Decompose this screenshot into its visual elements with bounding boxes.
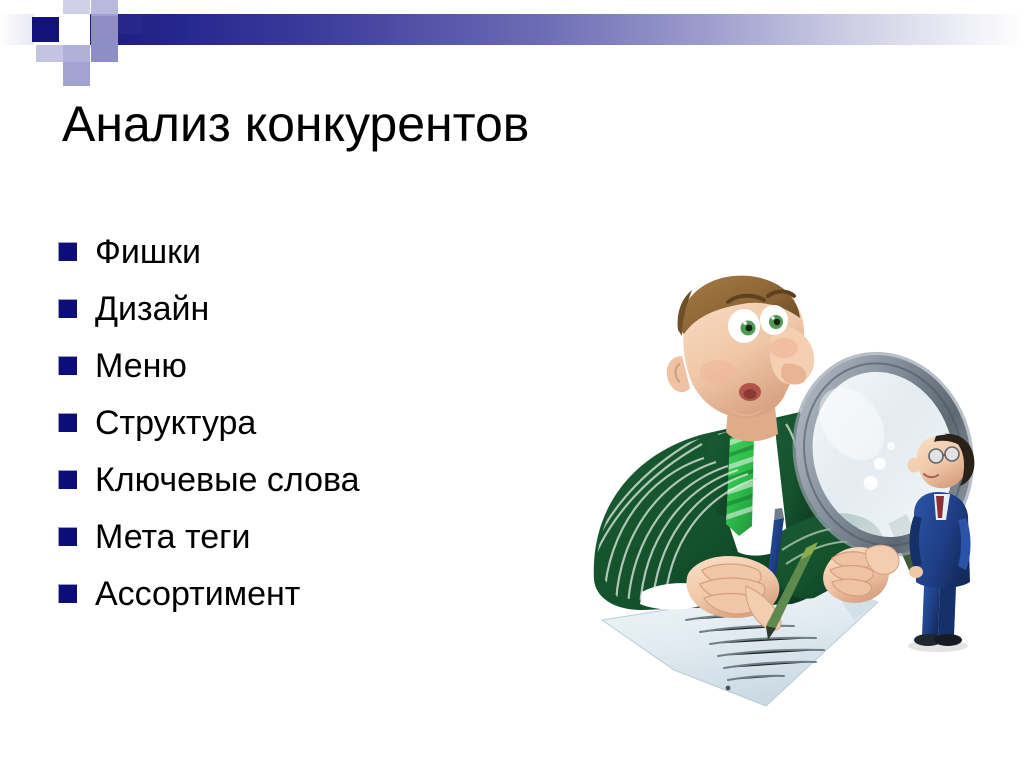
header-gradient-band bbox=[88, 14, 1024, 45]
list-item: Меню bbox=[58, 346, 578, 403]
list-item-label: Фишки bbox=[95, 232, 201, 272]
deco-square-b bbox=[63, 14, 90, 45]
list-item: Фишки bbox=[58, 232, 578, 289]
list-item-label: Структура bbox=[95, 403, 256, 443]
list-item-label: Мета теги bbox=[95, 517, 251, 557]
small-man bbox=[907, 434, 974, 652]
bullet-square-icon bbox=[58, 527, 77, 546]
deco-square-fade-left bbox=[0, 14, 34, 45]
deco-square-g bbox=[91, 45, 118, 62]
bullet-square-icon bbox=[58, 356, 77, 375]
list-item-label: Ассортимент bbox=[95, 574, 300, 614]
list-item: Дизайн bbox=[58, 289, 578, 346]
slide-title: Анализ конкурентов bbox=[62, 98, 529, 151]
list-item-label: Меню bbox=[95, 346, 187, 386]
list-item: Структура bbox=[58, 403, 578, 460]
deco-square-overlay bbox=[118, 14, 142, 34]
header-decoration bbox=[0, 0, 1024, 90]
bullet-square-icon bbox=[58, 584, 77, 603]
list-item-label: Дизайн bbox=[95, 289, 209, 329]
bullet-square-icon bbox=[58, 299, 77, 318]
list-item-label: Ключевые слова bbox=[95, 460, 360, 500]
bullet-list: Фишки Дизайн Меню Структура Ключевые сло… bbox=[58, 232, 578, 631]
bullet-square-icon bbox=[58, 242, 77, 261]
deco-square-h bbox=[63, 62, 90, 86]
slide: Анализ конкурентов Фишки Дизайн Меню Стр… bbox=[0, 0, 1024, 768]
list-item: Ассортимент bbox=[58, 574, 578, 631]
mouth bbox=[739, 383, 761, 401]
deco-square-f bbox=[63, 45, 90, 62]
deco-square-navy bbox=[32, 17, 59, 42]
list-item: Ключевые слова bbox=[58, 460, 578, 517]
bullet-square-icon bbox=[58, 470, 77, 489]
bullet-square-icon bbox=[58, 413, 77, 432]
illustration-businessman-magnifier bbox=[578, 268, 1022, 708]
list-item: Мета теги bbox=[58, 517, 578, 574]
deco-square-d bbox=[91, 14, 118, 45]
deco-square-e bbox=[36, 45, 63, 62]
